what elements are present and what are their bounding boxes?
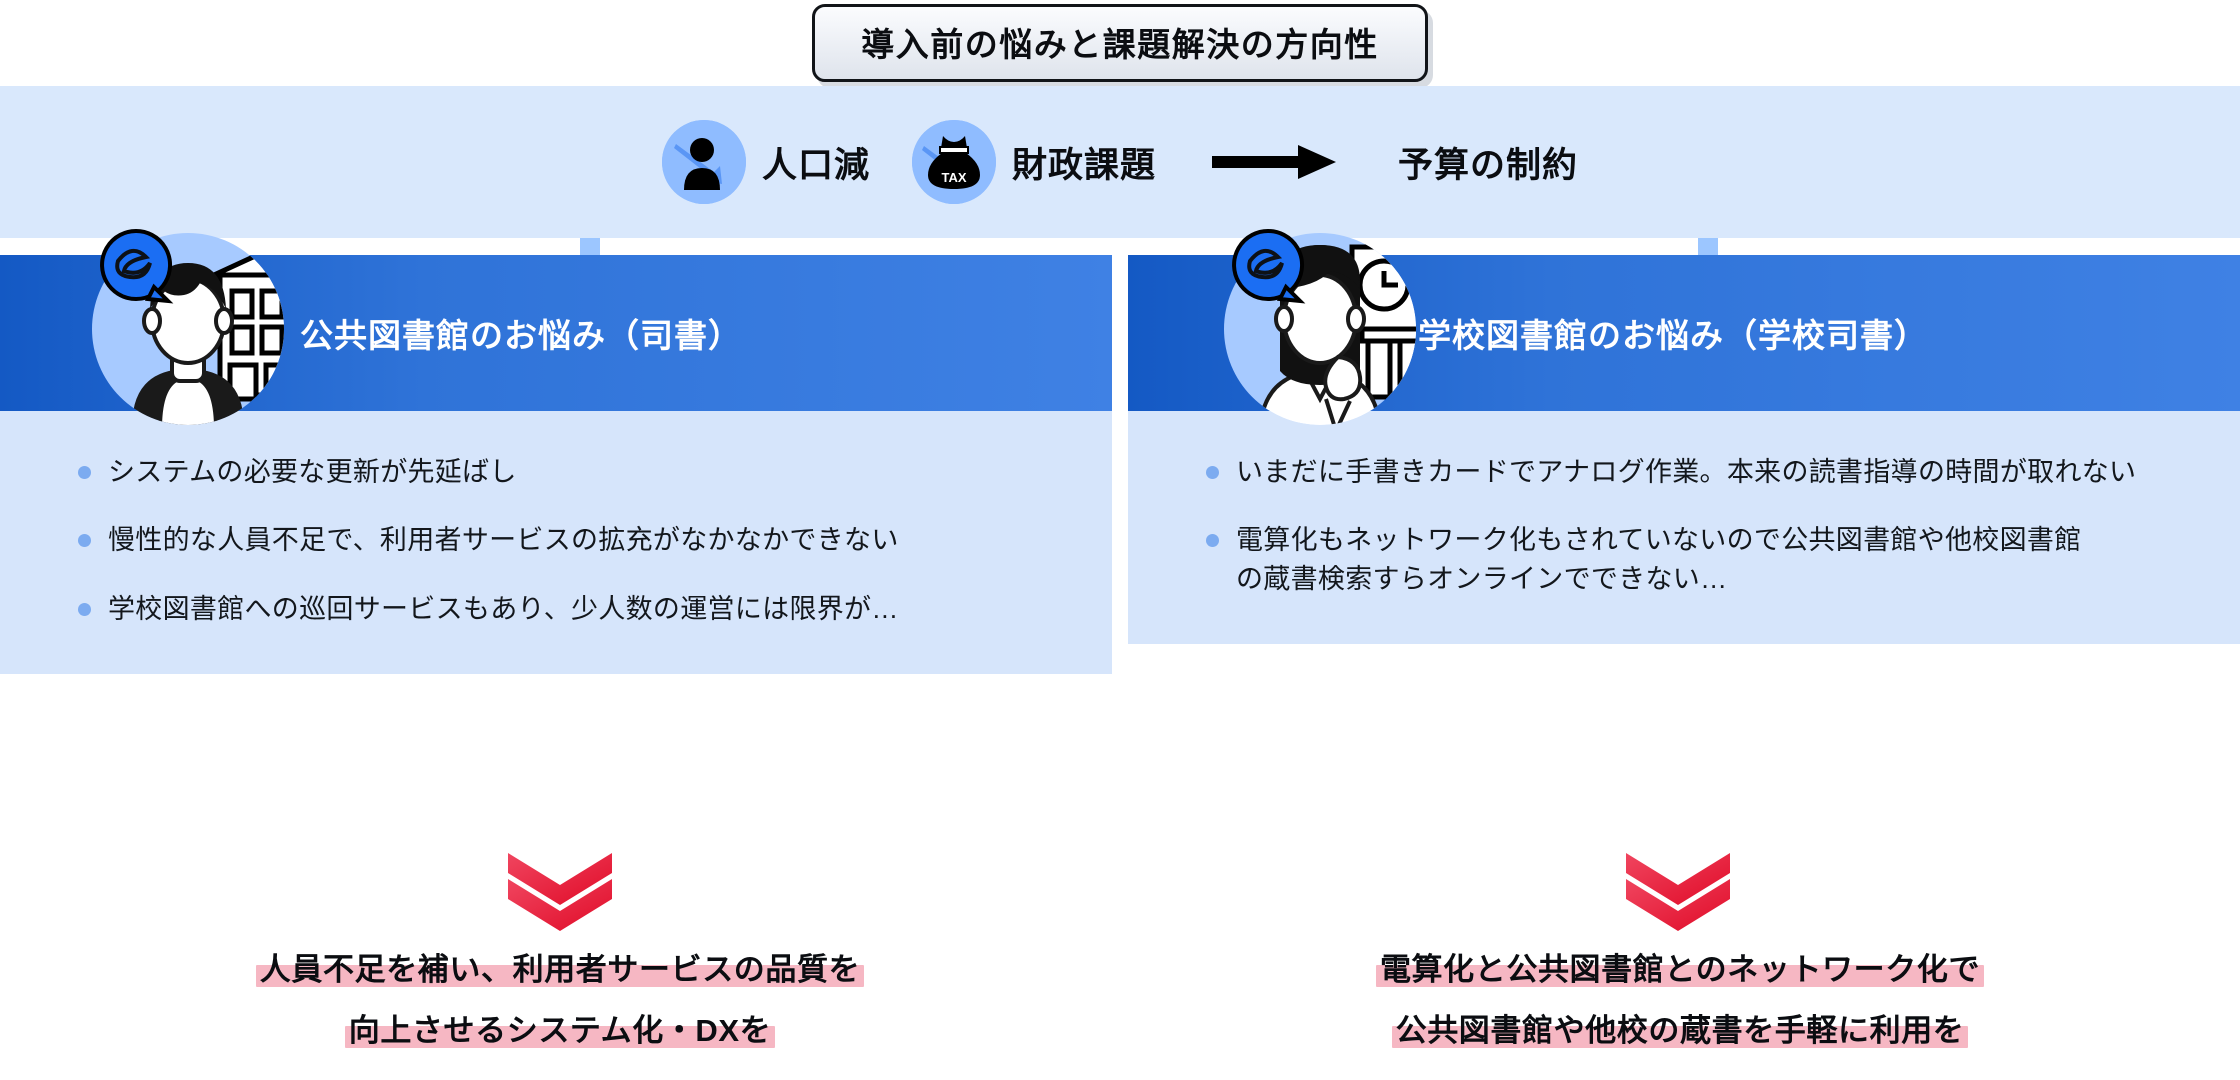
list-item: 電算化もネットワーク化もされていないので公共図書館や他校図書館 の蔵書検索すらオ… — [1206, 521, 2196, 598]
bullet-dot-icon — [1206, 534, 1219, 547]
conclusion-public-library: 人員不足を補い、利用者サービスの品質を 向上させるシステム化・DXを — [0, 944, 1120, 1050]
conclusion-line: 電算化と公共図書館とのネットワーク化で — [1380, 944, 1980, 989]
budget-constraint-label: 予算の制約 — [1398, 137, 1578, 188]
bullet-dot-icon — [1206, 466, 1219, 479]
factor-fiscal-challenge: TAX 財政課題 — [912, 120, 1156, 204]
bullet-dot-icon — [78, 466, 91, 479]
panel-public-library: 公共図書館のお悩み（司書） システムの必要な更新が先延ばし 慢性的な人員不足で、… — [0, 255, 1120, 674]
public-librarian-avatar — [80, 217, 296, 433]
panel-bullet-list: いまだに手書きカードでアナログ作業。本来の読書指導の時間が取れない 電算化もネッ… — [1128, 411, 2240, 644]
panel-header: 学校図書館のお悩み（学校司書） — [1128, 255, 2240, 411]
macro-factors-banner: 人口減 TAX 財政課題 — [0, 86, 2240, 238]
panel-header: 公共図書館のお悩み（司書） — [0, 255, 1112, 411]
person-decline-icon — [662, 120, 746, 204]
school-librarian-avatar — [1212, 217, 1428, 433]
page-title: 導入前の悩みと課題解決の方向性 — [861, 26, 1379, 63]
list-item: 学校図書館への巡回サービスもあり、少人数の運営には限界が… — [78, 590, 1072, 628]
list-item: いまだに手書きカードでアナログ作業。本来の読書指導の時間が取れない — [1206, 453, 2196, 491]
panel-bullet-list: システムの必要な更新が先延ばし 慢性的な人員不足で、利用者サービスの拡充がなかな… — [0, 411, 1112, 674]
factor-label: 財政課題 — [1012, 137, 1156, 188]
infographic-root: 導入前の悩みと課題解決の方向性 人口減 — [0, 0, 2240, 1080]
bullet-dot-icon — [78, 534, 91, 547]
conclusion-school-library: 電算化と公共図書館とのネットワーク化で 公共図書館や他校の蔵書を手軽に利用を — [1120, 944, 2240, 1050]
list-item-text-multiline: 電算化もネットワーク化もされていないので公共図書館や他校図書館 の蔵書検索すらオ… — [1236, 521, 2082, 598]
right-arrow-icon — [1212, 139, 1342, 185]
conclusion-line: 公共図書館や他校の蔵書を手軽に利用を — [1396, 1005, 1965, 1050]
factor-population-decline: 人口減 — [662, 120, 870, 204]
page-title-badge: 導入前の悩みと課題解決の方向性 — [812, 4, 1428, 82]
panel-header-title: 公共図書館のお悩み（司書） — [300, 309, 742, 357]
factor-label: 人口減 — [762, 137, 870, 188]
svg-text:TAX: TAX — [941, 170, 966, 185]
conclusion-line: 人員不足を補い、利用者サービスの品質を — [260, 944, 860, 989]
panel-header-title: 学校図書館のお悩み（学校司書） — [1418, 309, 1928, 357]
double-chevron-down-icon-right — [1626, 853, 1730, 931]
macro-factors-row: 人口減 TAX 財政課題 — [662, 120, 1578, 204]
tax-bag-decline-icon: TAX — [912, 120, 996, 204]
double-chevron-down-icon-left — [508, 853, 612, 931]
conclusion-line: 向上させるシステム化・DXを — [349, 1005, 772, 1050]
list-item: 慢性的な人員不足で、利用者サービスの拡充がなかなかできない — [78, 521, 1072, 559]
list-item: システムの必要な更新が先延ばし — [78, 453, 1072, 491]
bullet-dot-icon — [78, 603, 91, 616]
panel-school-library: 学校図書館のお悩み（学校司書） いまだに手書きカードでアナログ作業。本来の読書指… — [1120, 255, 2240, 644]
title-container: 導入前の悩みと課題解決の方向性 — [0, 4, 2240, 82]
